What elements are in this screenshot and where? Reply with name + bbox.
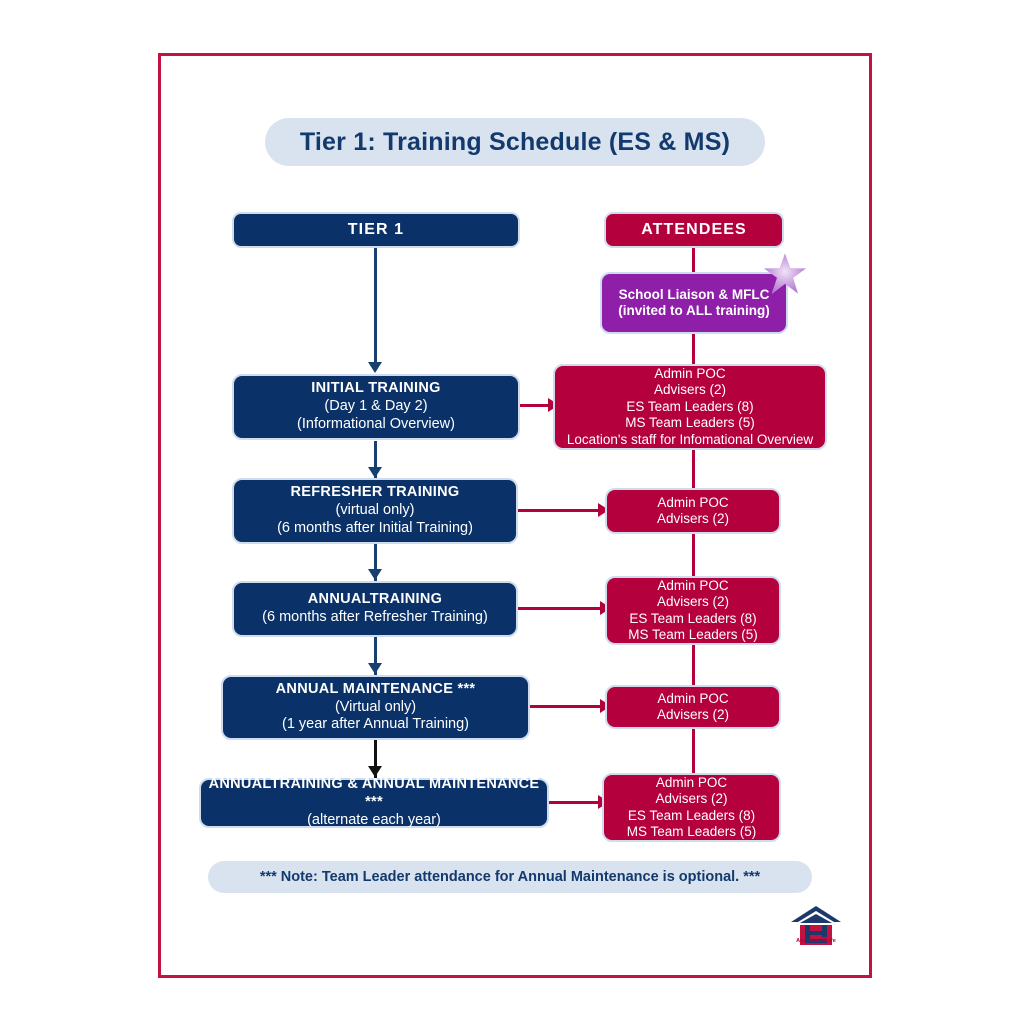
attendee-line: Admin POC [654, 366, 725, 382]
box-attendees-combined: Admin POC Advisers (2) ES Team Leaders (… [602, 773, 781, 842]
attendee-line: Advisers (2) [655, 791, 727, 807]
highlight-line-1: School Liaison & MFLC [619, 287, 770, 303]
header-tier1: TIER 1 [232, 212, 520, 248]
box-combined-line2: (alternate each year) [307, 812, 441, 830]
box-annual-maintenance-line2: (Virtual only) [335, 699, 416, 717]
box-initial-training-line1: INITIAL TRAINING [311, 380, 440, 398]
box-combined-line1: ANNUALTRAINING & ANNUAL MAINTENANCE *** [201, 776, 547, 811]
diagram-page: Tier 1: Training Schedule (ES & MS) TIER… [0, 0, 1030, 1030]
attendee-line: Location's staff for Infomational Overvi… [567, 432, 813, 448]
connector-attendees3-to-attendees4 [692, 645, 695, 685]
connector-maintenance-to-attendees [530, 705, 602, 708]
connector-liaison-to-attendees1 [692, 334, 695, 366]
connector-tier1-to-initial [374, 248, 377, 365]
attendee-line: Advisers (2) [657, 511, 729, 527]
attendee-line: Admin POC [656, 775, 727, 791]
highlight-school-liaison-mflc: School Liaison & MFLC (invited to ALL tr… [600, 272, 788, 334]
box-annual-training-line1: ANNUALTRAINING [308, 591, 442, 609]
attendee-line: MS Team Leaders (5) [627, 824, 757, 840]
box-annual-training: ANNUALTRAINING (6 months after Refresher… [232, 581, 518, 637]
attendee-line: ES Team Leaders (8) [629, 611, 756, 627]
connector-annual-to-attendees [518, 607, 602, 610]
box-attendees-maintenance: Admin POC Advisers (2) [605, 685, 781, 729]
box-annual-maintenance-line3: (1 year after Annual Training) [282, 716, 469, 734]
box-initial-training-line2: (Day 1 & Day 2) [324, 398, 427, 416]
attendee-line: MS Team Leaders (5) [628, 627, 758, 643]
attendee-line: Advisers (2) [654, 382, 726, 398]
box-attendees-annual: Admin POC Advisers (2) ES Team Leaders (… [605, 576, 781, 645]
connector-initial-to-attendees [520, 404, 550, 407]
box-annual-maintenance: ANNUAL MAINTENANCE *** (Virtual only) (1… [221, 675, 530, 740]
page-title-text: Tier 1: Training Schedule (ES & MS) [300, 128, 730, 157]
box-refresher-training: REFRESHER TRAINING (virtual only) (6 mon… [232, 478, 518, 544]
arrowhead-tier1-to-initial [368, 362, 382, 373]
connector-attendees2-to-attendees3 [692, 534, 695, 576]
logo-text: Anchored4Life [788, 938, 844, 944]
attendee-line: Admin POC [657, 578, 728, 594]
footer-note-text: *** Note: Team Leader attendance for Ann… [260, 869, 760, 885]
arrowhead-refresher-to-annual [368, 569, 382, 580]
connector-attendees-to-liaison [692, 248, 695, 274]
arrowhead-maintenance-to-combined [368, 766, 382, 777]
header-attendees: ATTENDEES [604, 212, 784, 248]
highlight-line-2: (invited to ALL training) [618, 303, 770, 319]
attendee-line: Admin POC [657, 495, 728, 511]
attendee-line: ES Team Leaders (8) [628, 808, 755, 824]
box-refresher-training-line2: (virtual only) [336, 502, 415, 520]
page-title: Tier 1: Training Schedule (ES & MS) [265, 118, 765, 166]
connector-combined-to-attendees [549, 801, 600, 804]
box-refresher-training-line3: (6 months after Initial Training) [277, 520, 473, 538]
box-attendees-initial: Admin POC Advisers (2) ES Team Leaders (… [553, 364, 827, 450]
connector-attendees1-to-attendees2 [692, 446, 695, 488]
attendee-line: Advisers (2) [657, 707, 729, 723]
box-attendees-refresher: Admin POC Advisers (2) [605, 488, 781, 534]
attendee-line: ES Team Leaders (8) [626, 399, 753, 415]
box-refresher-training-line1: REFRESHER TRAINING [291, 484, 460, 502]
attendee-line: Advisers (2) [657, 594, 729, 610]
footer-note: *** Note: Team Leader attendance for Ann… [208, 861, 812, 893]
attendee-line: MS Team Leaders (5) [625, 415, 755, 431]
connector-attendees4-to-attendees5 [692, 729, 695, 773]
box-annual-training-line2: (6 months after Refresher Training) [262, 609, 488, 627]
box-initial-training-line3: (Informational Overview) [297, 416, 455, 434]
box-annual-training-and-maintenance: ANNUALTRAINING & ANNUAL MAINTENANCE *** … [199, 778, 549, 828]
header-attendees-label: ATTENDEES [641, 220, 747, 240]
attendee-line: Admin POC [657, 691, 728, 707]
star-icon [762, 252, 808, 298]
box-initial-training: INITIAL TRAINING (Day 1 & Day 2) (Inform… [232, 374, 520, 440]
arrowhead-annual-to-maintenance [368, 663, 382, 674]
arrowhead-initial-to-refresher [368, 467, 382, 478]
connector-refresher-to-attendees [518, 509, 600, 512]
header-tier1-label: TIER 1 [348, 220, 404, 240]
box-annual-maintenance-line1: ANNUAL MAINTENANCE *** [276, 681, 476, 699]
